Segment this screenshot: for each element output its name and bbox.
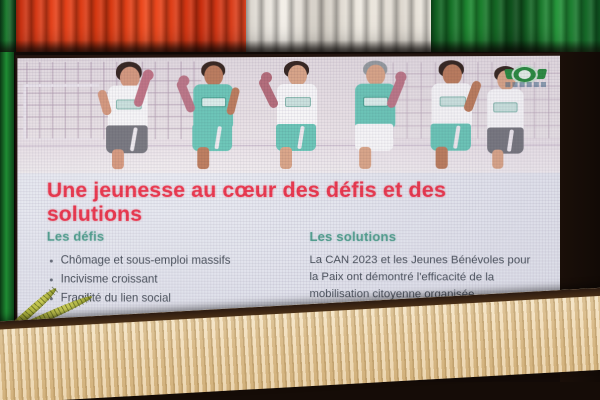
stage-scene: Une jeunesse au cœur des défis et des so… [0,0,600,400]
challenges-heading: Les défis [47,229,282,244]
logo-emblem-icon [513,67,535,82]
player-figure [267,61,327,169]
logo-wing-right [536,69,548,79]
organization-logo [505,66,546,88]
slide-illustration [17,56,560,174]
solutions-heading: Les solutions [309,229,541,244]
page-title: Une jeunesse au cœur des défis et des so… [47,179,547,227]
player-figure [98,62,159,170]
logo-wordmark [505,82,546,87]
player-figure [422,60,483,169]
list-item: Chômage et sous-emploi massifs [47,252,282,271]
goalpost-icon [23,84,99,142]
player-figure [183,61,243,169]
player-figure [345,60,405,168]
